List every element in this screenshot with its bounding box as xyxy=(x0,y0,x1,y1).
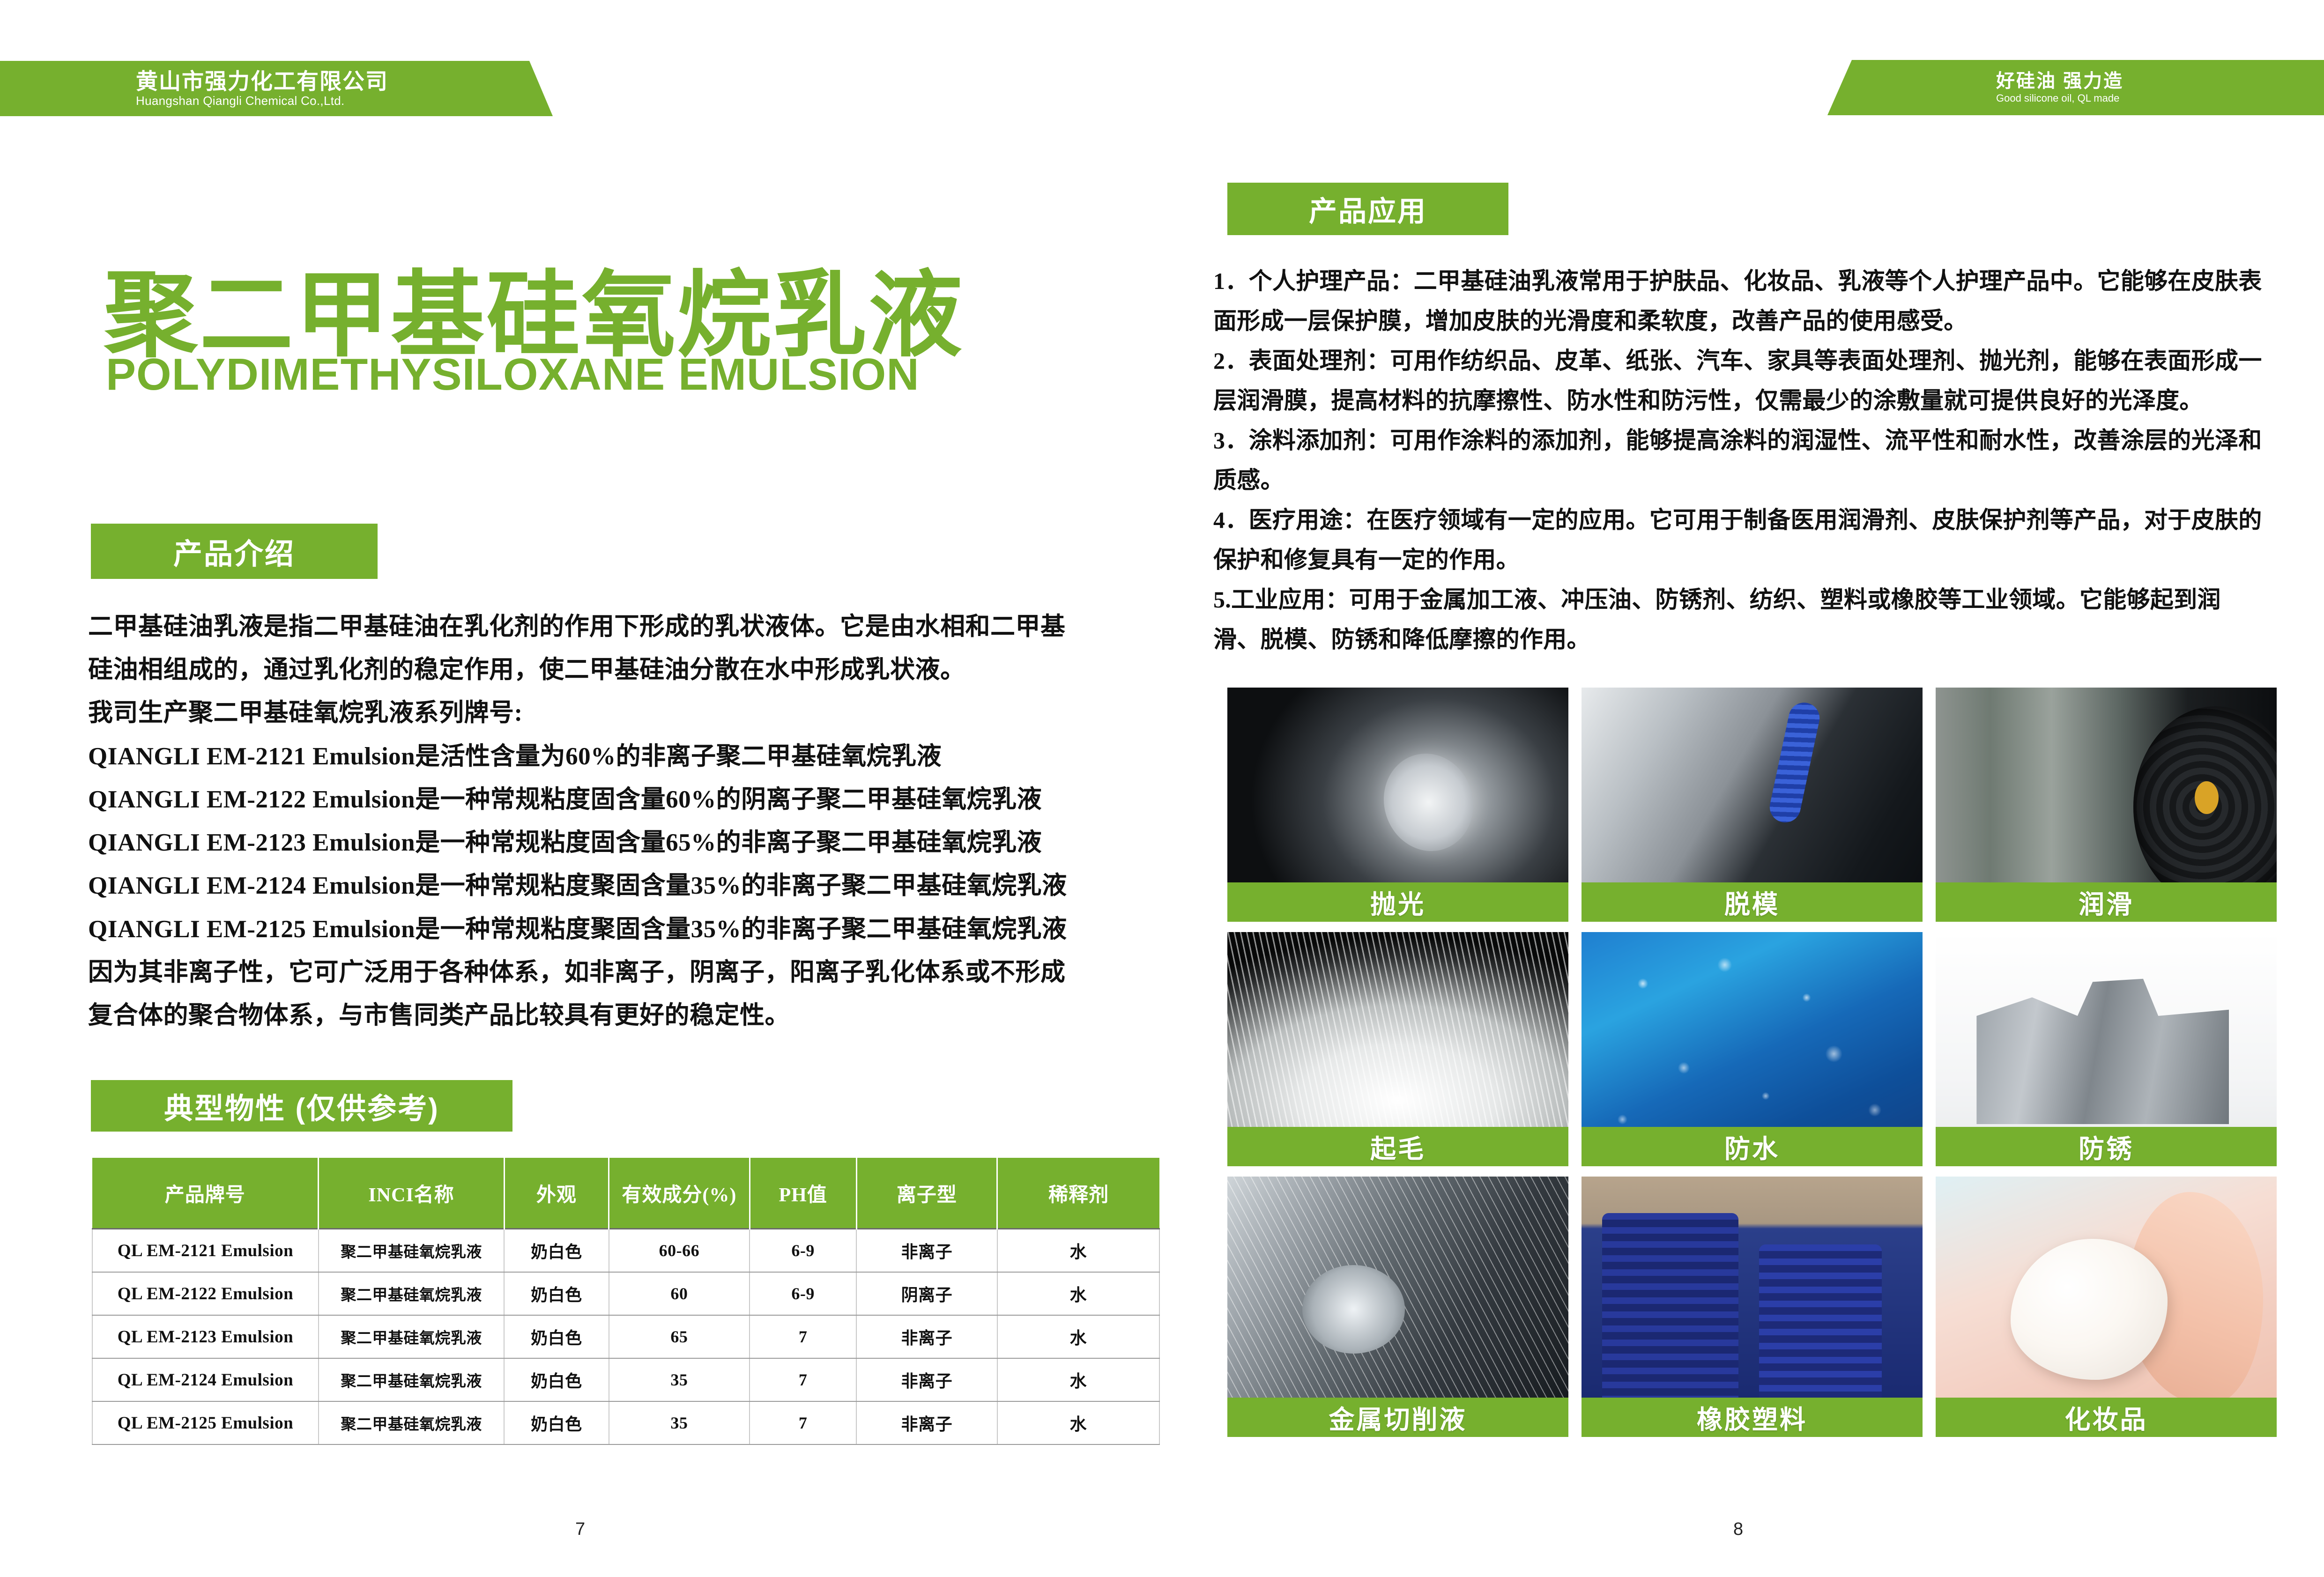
typical-properties-table: 产品牌号 INCI名称 外观 有效成分(%) PH值 离子型 稀释剂 QL EM… xyxy=(92,1158,1160,1445)
left-page: 聚二甲基硅氧烷乳液 POLYDIMETHYSILOXANE EMULSION 产… xyxy=(0,0,1162,1577)
page-title-en: POLYDIMETHYSILOXANE EMULSION xyxy=(106,352,920,397)
cell-inci: 聚二甲基硅氧烷乳液 xyxy=(319,1229,504,1273)
table-row: QL EM-2121 Emulsion 聚二甲基硅氧烷乳液 奶白色 60-66 … xyxy=(92,1229,1159,1273)
cell-inci: 聚二甲基硅氧烷乳液 xyxy=(319,1401,504,1444)
cell-diluent: 水 xyxy=(997,1401,1159,1444)
cell-inci: 聚二甲基硅氧烷乳液 xyxy=(319,1272,504,1315)
application-line: 4．医疗用途：在医疗领域有一定的应用。它可用于制备医用润滑剂、皮肤保护剂等产品，… xyxy=(1213,501,2272,539)
cell-inci: 聚二甲基硅氧烷乳液 xyxy=(319,1315,504,1358)
application-line: 5.工业应用：可用于金属加工液、冲压油、防锈剂、纺织、塑料或橡胶等工业领域。它能… xyxy=(1213,581,2272,619)
column-header-inci: INCI名称 xyxy=(319,1158,504,1229)
application-gallery: 抛光 脱模 润滑 起毛 防水 防锈 金属切削液 橡胶塑料 xyxy=(1227,688,2277,1437)
cell-brand: QL EM-2122 Emulsion xyxy=(92,1272,319,1315)
section-tag-product-intro: 产品介绍 xyxy=(91,524,378,579)
cell-active: 65 xyxy=(609,1315,750,1358)
gallery-item-fiber-fluff: 起毛 xyxy=(1227,932,1568,1166)
cell-ph: 6-9 xyxy=(750,1272,856,1315)
intro-line: 硅油相组成的，通过乳化剂的稳定作用，使二甲基硅油分散在水中形成乳状液。 xyxy=(88,648,1077,691)
cell-active: 60-66 xyxy=(609,1229,750,1273)
product-intro-text: 二甲基硅油乳液是指二甲基硅油在乳化剂的作用下形成的乳状液体。它是由水相和二甲基 … xyxy=(88,605,1077,1037)
cell-ionic: 非离子 xyxy=(856,1315,997,1358)
page-number-right: 8 xyxy=(1733,1519,1743,1540)
gallery-caption: 防水 xyxy=(1582,1127,1923,1166)
cell-ph: 7 xyxy=(750,1358,856,1401)
gallery-item-mold-release: 脱模 xyxy=(1582,688,1923,922)
table-row: QL EM-2122 Emulsion 聚二甲基硅氧烷乳液 奶白色 60 6-9… xyxy=(92,1272,1159,1315)
cell-brand: QL EM-2121 Emulsion xyxy=(92,1229,319,1273)
cell-diluent: 水 xyxy=(997,1358,1159,1401)
application-line: 质感。 xyxy=(1213,461,2272,499)
gallery-item-metal-cutting-fluid: 金属切削液 xyxy=(1227,1177,1568,1437)
gallery-caption: 起毛 xyxy=(1227,1127,1568,1166)
table-row: QL EM-2125 Emulsion 聚二甲基硅氧烷乳液 奶白色 35 7 非… xyxy=(92,1401,1159,1444)
cell-appearance: 奶白色 xyxy=(504,1358,609,1401)
cell-appearance: 奶白色 xyxy=(504,1272,609,1315)
section-tag-typical-properties: 典型物性 (仅供参考) xyxy=(91,1080,512,1132)
gallery-caption: 防锈 xyxy=(1936,1127,2277,1166)
cell-active: 60 xyxy=(609,1272,750,1315)
cell-diluent: 水 xyxy=(997,1229,1159,1273)
column-header-ionic: 离子型 xyxy=(856,1158,997,1229)
section-tag-product-applications: 产品应用 xyxy=(1227,183,1508,235)
intro-line: 复合体的聚合物体系，与市售同类产品比较具有更好的稳定性。 xyxy=(88,994,1077,1037)
intro-line: QIANGLI EM-2121 Emulsion是活性含量为60%的非离子聚二甲… xyxy=(88,735,1077,778)
column-header-active: 有效成分(%) xyxy=(609,1158,750,1229)
intro-line: 我司生产聚二甲基硅氧烷乳液系列牌号: xyxy=(88,691,1077,734)
cell-ph: 6-9 xyxy=(750,1229,856,1273)
gallery-item-waterproof: 防水 xyxy=(1582,932,1923,1166)
gallery-caption: 润滑 xyxy=(1936,882,2277,922)
application-line: 1．个人护理产品：二甲基硅油乳液常用于护肤品、化妆品、乳液等个人护理产品中。它能… xyxy=(1213,262,2272,300)
cell-ph: 7 xyxy=(750,1315,856,1358)
cell-ionic: 非离子 xyxy=(856,1229,997,1273)
intro-line: QIANGLI EM-2124 Emulsion是一种常规粘度聚固含量35%的非… xyxy=(88,864,1077,907)
gallery-item-polishing: 抛光 xyxy=(1227,688,1568,922)
column-header-appearance: 外观 xyxy=(504,1158,609,1229)
application-line: 3．涂料添加剂：可用作涂料的添加剂，能够提高涂料的润湿性、流平性和耐水性，改善涂… xyxy=(1213,422,2272,459)
intro-line: 因为其非离子性，它可广泛用于各种体系，如非离子，阴离子，阳离子乳化体系或不形成 xyxy=(88,951,1077,994)
cell-diluent: 水 xyxy=(997,1315,1159,1358)
cell-brand: QL EM-2125 Emulsion xyxy=(92,1401,319,1444)
column-header-diluent: 稀释剂 xyxy=(997,1158,1159,1229)
page-number-left: 7 xyxy=(575,1519,585,1540)
cell-active: 35 xyxy=(609,1401,750,1444)
gallery-item-anti-rust: 防锈 xyxy=(1936,932,2277,1166)
cell-active: 35 xyxy=(609,1358,750,1401)
table-row: QL EM-2123 Emulsion 聚二甲基硅氧烷乳液 奶白色 65 7 非… xyxy=(92,1315,1159,1358)
cell-ionic: 阴离子 xyxy=(856,1272,997,1315)
intro-line: QIANGLI EM-2125 Emulsion是一种常规粘度聚固含量35%的非… xyxy=(88,908,1077,951)
gallery-caption: 脱模 xyxy=(1582,882,1923,922)
gallery-caption: 抛光 xyxy=(1227,882,1568,922)
page-title-cn: 聚二甲基硅氧烷乳液 xyxy=(104,269,964,363)
intro-line: QIANGLI EM-2123 Emulsion是一种常规粘度固含量65%的非离… xyxy=(88,821,1077,864)
cell-appearance: 奶白色 xyxy=(504,1401,609,1444)
product-applications-text: 1．个人护理产品：二甲基硅油乳液常用于护肤品、化妆品、乳液等个人护理产品中。它能… xyxy=(1213,262,2272,660)
gallery-item-lubrication: 润滑 xyxy=(1936,688,2277,922)
column-header-brand: 产品牌号 xyxy=(92,1158,319,1229)
column-header-ph: PH值 xyxy=(750,1158,856,1229)
cell-ph: 7 xyxy=(750,1401,856,1444)
application-line: 滑、脱模、防锈和降低摩擦的作用。 xyxy=(1213,621,2272,659)
cell-brand: QL EM-2124 Emulsion xyxy=(92,1358,319,1401)
intro-line: QIANGLI EM-2122 Emulsion是一种常规粘度固含量60%的阴离… xyxy=(88,778,1077,821)
application-line: 层润滑膜，提高材料的抗摩擦性、防水性和防污性，仅需最少的涂敷量就可提供良好的光泽… xyxy=(1213,382,2272,420)
gallery-caption: 金属切削液 xyxy=(1227,1398,1568,1437)
cell-brand: QL EM-2123 Emulsion xyxy=(92,1315,319,1358)
application-line: 保护和修复具有一定的作用。 xyxy=(1213,541,2272,579)
gallery-item-rubber-plastic: 橡胶塑料 xyxy=(1582,1177,1923,1437)
cell-diluent: 水 xyxy=(997,1272,1159,1315)
table-header-row: 产品牌号 INCI名称 外观 有效成分(%) PH值 离子型 稀释剂 xyxy=(92,1158,1159,1229)
cell-appearance: 奶白色 xyxy=(504,1229,609,1273)
application-line: 面形成一层保护膜，增加皮肤的光滑度和柔软度，改善产品的使用感受。 xyxy=(1213,302,2272,340)
gallery-caption: 橡胶塑料 xyxy=(1582,1398,1923,1437)
cell-inci: 聚二甲基硅氧烷乳液 xyxy=(319,1358,504,1401)
right-page: 产品应用 1．个人护理产品：二甲基硅油乳液常用于护肤品、化妆品、乳液等个人护理产… xyxy=(1162,0,2324,1577)
cell-ionic: 非离子 xyxy=(856,1401,997,1444)
gallery-caption: 化妆品 xyxy=(1936,1398,2277,1437)
gallery-item-cosmetics: 化妆品 xyxy=(1936,1177,2277,1437)
application-line: 2．表面处理剂：可用作纺织品、皮革、纸张、汽车、家具等表面处理剂、抛光剂，能够在… xyxy=(1213,342,2272,380)
cell-ionic: 非离子 xyxy=(856,1358,997,1401)
table-row: QL EM-2124 Emulsion 聚二甲基硅氧烷乳液 奶白色 35 7 非… xyxy=(92,1358,1159,1401)
cell-appearance: 奶白色 xyxy=(504,1315,609,1358)
intro-line: 二甲基硅油乳液是指二甲基硅油在乳化剂的作用下形成的乳状液体。它是由水相和二甲基 xyxy=(88,605,1077,648)
